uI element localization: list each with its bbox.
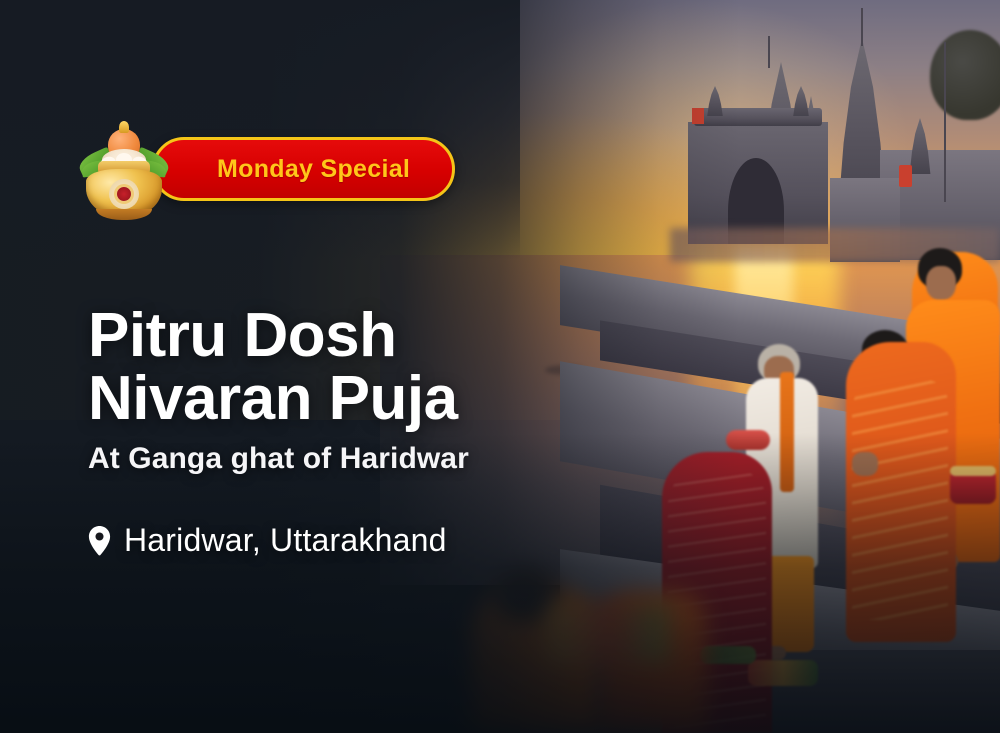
special-badge-row: Monday Special bbox=[72, 118, 455, 220]
map-pin-icon bbox=[88, 526, 111, 556]
title-line-2: Nivaran Puja bbox=[88, 367, 648, 431]
banner-content: Monday Special Pitru Dosh Nivaran Puja A… bbox=[0, 0, 1000, 733]
title-line-1: Pitru Dosh bbox=[88, 301, 396, 370]
kalash-icon bbox=[72, 117, 176, 221]
page-title: Pitru Dosh Nivaran Puja bbox=[88, 304, 648, 432]
promo-banner: Monday Special Pitru Dosh Nivaran Puja A… bbox=[0, 0, 1000, 733]
location-text: Haridwar, Uttarakhand bbox=[124, 522, 447, 559]
subtitle: At Ganga ghat of Haridwar bbox=[88, 442, 469, 476]
badge-label: Monday Special bbox=[217, 155, 410, 184]
monday-special-badge[interactable]: Monday Special bbox=[152, 137, 455, 201]
location-row: Haridwar, Uttarakhand bbox=[88, 522, 447, 559]
